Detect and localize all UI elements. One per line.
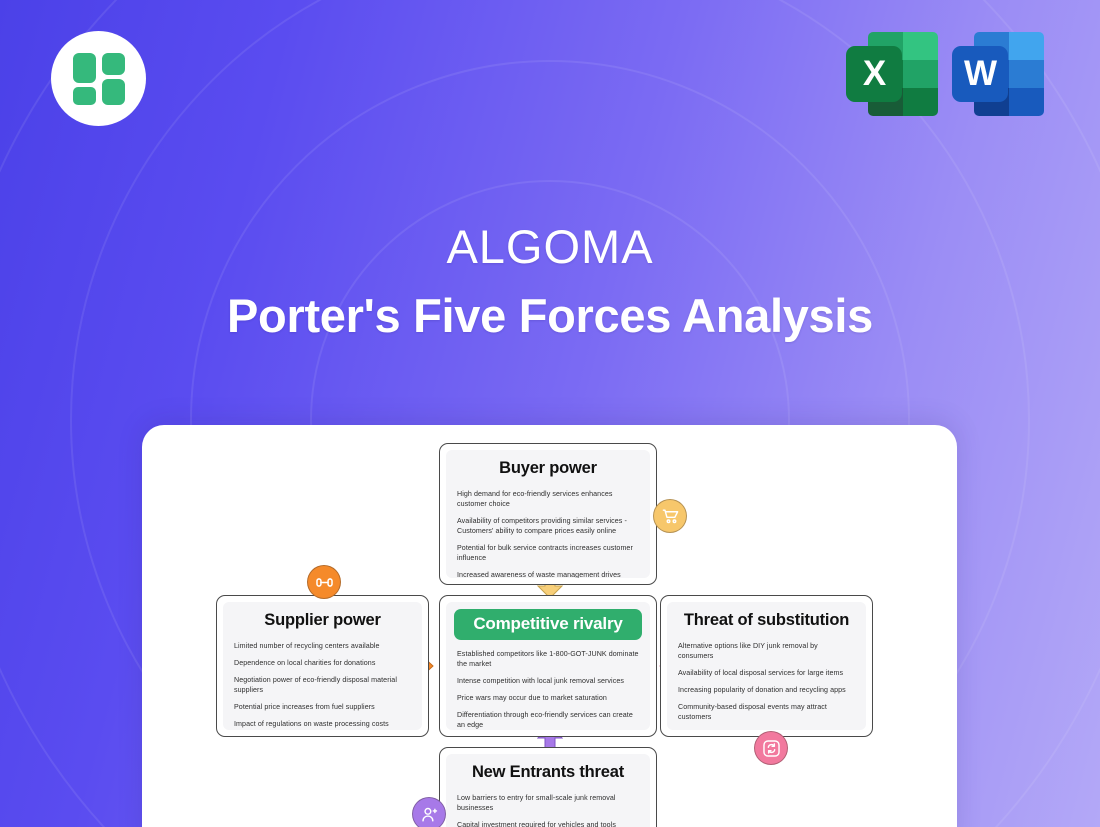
force-title-supplier: Supplier power	[234, 611, 411, 630]
word-letter: W	[952, 46, 1008, 102]
force-inner-rivalry: Competitive rivalry Established competit…	[446, 602, 650, 730]
force-inner-supplier: Supplier power Limited number of recycli…	[223, 602, 422, 730]
force-inner-buyer: Buyer power High demand for eco-friendly…	[446, 450, 650, 578]
porters-five-forces-diagram: Buyer power High demand for eco-friendly…	[142, 425, 957, 827]
list-item: Alternative options like DIY junk remova…	[678, 641, 855, 661]
list-item: Potential for bulk service contracts inc…	[457, 543, 639, 563]
force-points-new-entrants: Low barriers to entry for small-scale ju…	[457, 793, 639, 827]
list-item: Price wars may occur due to market satur…	[457, 693, 639, 703]
slide-canvas: X W ALGOMA Porter's Five Forces Analysis	[0, 0, 1100, 827]
force-box-buyer[interactable]: Buyer power High demand for eco-friendly…	[439, 443, 657, 585]
title-block: ALGOMA Porter's Five Forces Analysis	[0, 222, 1100, 343]
list-item: Capital investment required for vehicles…	[457, 820, 639, 827]
force-title-buyer: Buyer power	[457, 459, 639, 478]
badge-supplier-power[interactable]	[307, 565, 341, 599]
list-item: Intense competition with local junk remo…	[457, 676, 639, 686]
brand-logo	[51, 31, 146, 126]
list-item: Differentiation through eco-friendly ser…	[457, 710, 639, 730]
force-title-new-entrants: New Entrants threat	[457, 763, 639, 782]
list-item: Availability of competitors providing si…	[457, 516, 639, 536]
force-inner-new-entrants: New Entrants threat Low barriers to entr…	[446, 754, 650, 827]
force-inner-substitution: Threat of substitution Alternative optio…	[667, 602, 866, 730]
list-item: Impact of regulations on waste processin…	[234, 719, 411, 729]
office-app-icons: X W	[846, 32, 1044, 116]
excel-icon[interactable]: X	[846, 32, 938, 116]
list-item: High demand for eco-friendly services en…	[457, 489, 639, 509]
badge-new-entrants-threat[interactable]	[412, 797, 446, 827]
force-points-rivalry: Established competitors like 1-800-GOT-J…	[457, 649, 639, 730]
force-points-buyer: High demand for eco-friendly services en…	[457, 489, 639, 578]
supply-chain-link-icon	[315, 573, 334, 592]
force-box-new-entrants[interactable]: New Entrants threat Low barriers to entr…	[439, 747, 657, 827]
add-user-icon	[420, 805, 439, 824]
shopping-cart-icon	[661, 507, 680, 526]
list-item: Homeowners may choose to keep items rath…	[678, 729, 855, 730]
force-points-substitution: Alternative options like DIY junk remova…	[678, 641, 855, 730]
list-item: Potential price increases from fuel supp…	[234, 702, 411, 712]
list-item: Dependence on local charities for donati…	[234, 658, 411, 668]
refresh-sync-icon	[762, 739, 781, 758]
list-item: Limited number of recycling centers avai…	[234, 641, 411, 651]
list-item: Increasing popularity of donation and re…	[678, 685, 855, 695]
force-box-rivalry[interactable]: Competitive rivalry Established competit…	[439, 595, 657, 737]
word-icon[interactable]: W	[952, 32, 1044, 116]
badge-buyer-power[interactable]	[653, 499, 687, 533]
force-box-supplier[interactable]: Supplier power Limited number of recycli…	[216, 595, 429, 737]
diagram-card: Buyer power High demand for eco-friendly…	[142, 425, 957, 827]
list-item: Increased awareness of waste management …	[457, 570, 639, 578]
list-item: Low barriers to entry for small-scale ju…	[457, 793, 639, 813]
list-item: Negotiation power of eco-friendly dispos…	[234, 675, 411, 695]
list-item: Established competitors like 1-800-GOT-J…	[457, 649, 639, 669]
force-box-substitution[interactable]: Threat of substitution Alternative optio…	[660, 595, 873, 737]
page-title: Porter's Five Forces Analysis	[0, 288, 1100, 343]
list-item: Community-based disposal events may attr…	[678, 702, 855, 722]
force-title-substitution: Threat of substitution	[678, 611, 855, 630]
grid-blocks-logo-icon	[73, 53, 125, 105]
excel-letter: X	[846, 46, 902, 102]
force-points-supplier: Limited number of recycling centers avai…	[234, 641, 411, 729]
force-title-rivalry: Competitive rivalry	[454, 609, 642, 640]
list-item: Availability of local disposal services …	[678, 668, 855, 678]
company-name: ALGOMA	[0, 222, 1100, 271]
badge-threat-of-substitution[interactable]	[754, 731, 788, 765]
